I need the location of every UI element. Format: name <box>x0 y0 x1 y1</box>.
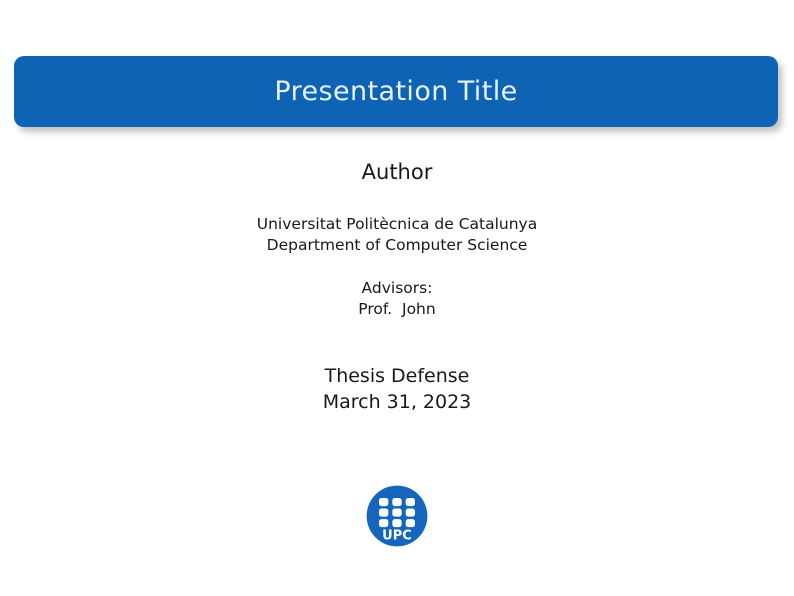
upc-logo-icon: UPC <box>366 485 428 547</box>
author-name: Author <box>0 160 794 185</box>
title-slide-body: Author Universitat Politècnica de Catalu… <box>0 160 794 416</box>
logo-container: UPC <box>0 485 794 547</box>
institute-university: Universitat Politècnica de Catalunya <box>0 214 794 235</box>
institute-department: Department of Computer Science <box>0 235 794 256</box>
event-occasion: Thesis Defense <box>0 364 794 390</box>
institute-block: Universitat Politècnica de Catalunya Dep… <box>0 214 794 257</box>
logo-wordmark: UPC <box>382 529 412 544</box>
advisor-name: Prof. John <box>0 299 794 320</box>
advisors-block: Advisors: Prof. John <box>0 278 794 321</box>
author-block: Author <box>0 160 794 185</box>
title-slide: Presentation Title Author Universitat Po… <box>0 0 794 596</box>
event-block: Thesis Defense March 31, 2023 <box>0 364 794 415</box>
advisors-label: Advisors: <box>0 278 794 299</box>
title-bar-container: Presentation Title <box>14 56 778 127</box>
title-bar: Presentation Title <box>14 56 778 127</box>
logo-dot-grid <box>379 498 415 527</box>
event-date: March 31, 2023 <box>0 390 794 416</box>
presentation-title: Presentation Title <box>274 78 517 105</box>
